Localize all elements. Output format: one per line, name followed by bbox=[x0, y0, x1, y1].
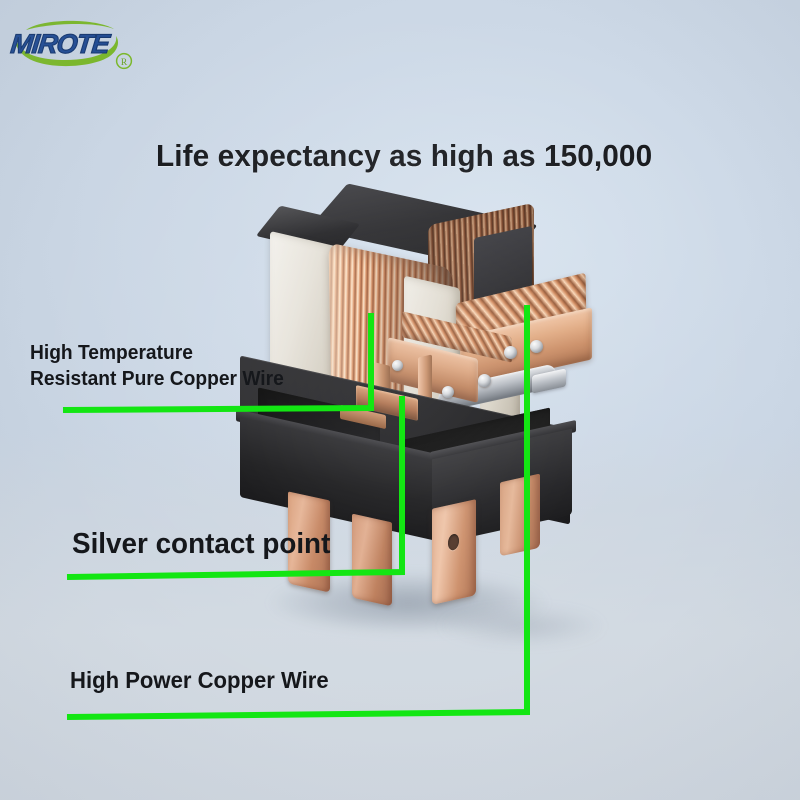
callout-copper-wire-line1: High Temperature bbox=[30, 340, 284, 366]
silver-rivet bbox=[478, 374, 491, 387]
callout-power-wire-line1: High Power Copper Wire bbox=[70, 666, 329, 694]
silver-rivet bbox=[530, 340, 543, 353]
copper-spade-terminal bbox=[500, 474, 540, 557]
page-title: Life expectancy as high as 150,000 bbox=[156, 138, 652, 174]
brand-logo: MIROTE R bbox=[8, 14, 153, 74]
logo-wordmark: MIROTE bbox=[9, 28, 112, 59]
callout-power-wire: High Power Copper Wire bbox=[70, 666, 329, 694]
silver-rivet bbox=[442, 386, 454, 398]
svg-text:MIROTE: MIROTE bbox=[9, 28, 112, 59]
callout-copper-wire: High Temperature Resistant Pure Copper W… bbox=[30, 340, 284, 392]
registered-mark-icon: R bbox=[117, 54, 132, 69]
callout-copper-wire-line2: Resistant Pure Copper Wire bbox=[30, 366, 284, 392]
relay-product-image bbox=[232, 196, 602, 626]
copper-spade-terminal bbox=[432, 499, 476, 605]
terminal-mounting-hole bbox=[448, 533, 459, 551]
product-infographic-canvas: MIROTE R Life expectancy as high as 150,… bbox=[0, 0, 800, 800]
silver-rivet bbox=[392, 360, 403, 371]
callout-silver-contact: Silver contact point bbox=[72, 527, 330, 561]
callout-silver-contact-line1: Silver contact point bbox=[72, 527, 330, 561]
silver-rivet bbox=[504, 346, 517, 359]
copper-spade-terminal bbox=[352, 514, 392, 607]
svg-text:R: R bbox=[121, 58, 128, 68]
